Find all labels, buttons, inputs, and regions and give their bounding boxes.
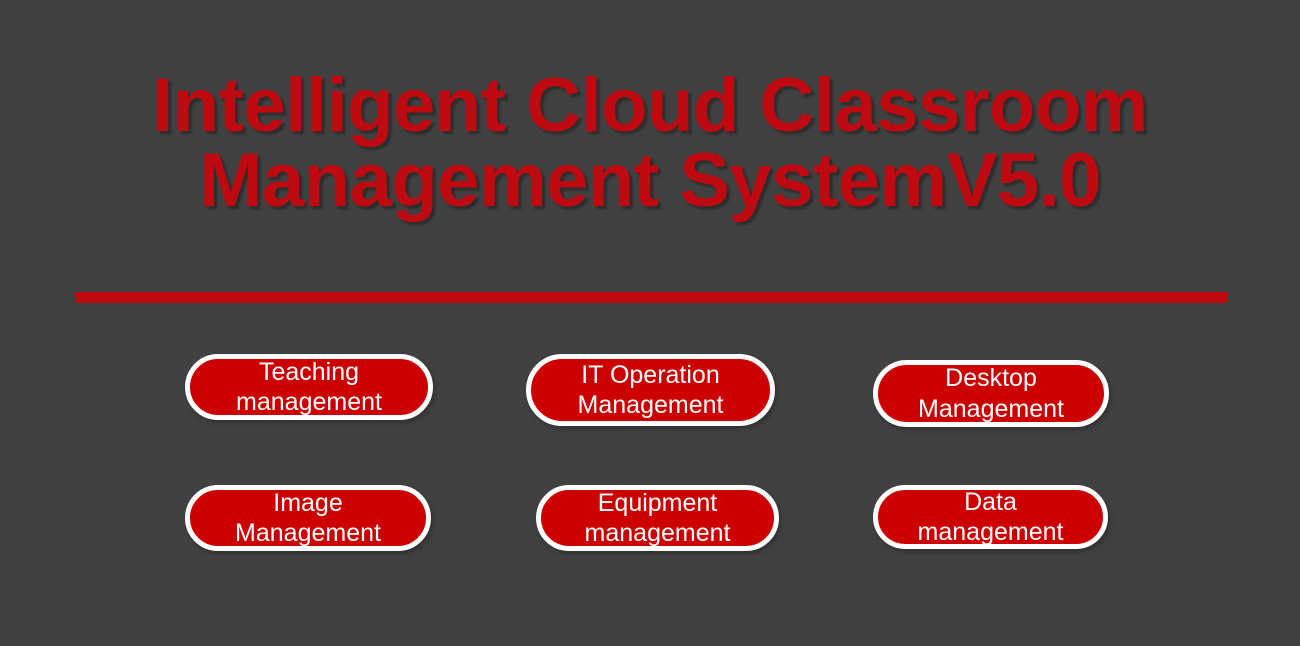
- menu-button-teaching-management[interactable]: Teaching management: [185, 354, 433, 420]
- page-title-line-2: Management SystemV5.0: [0, 143, 1300, 218]
- menu-button-label: Image Management: [235, 488, 381, 549]
- menu-button-label: Equipment management: [585, 488, 731, 549]
- title-divider-rule: [75, 292, 1228, 303]
- slide-canvas: Intelligent Cloud Classroom Management S…: [0, 0, 1300, 646]
- menu-button-desktop-management[interactable]: Desktop Management: [873, 360, 1109, 427]
- menu-button-it-operation-management[interactable]: IT Operation Management: [526, 354, 775, 426]
- menu-button-equipment-management[interactable]: Equipment management: [536, 485, 779, 551]
- page-title-line-1: Intelligent Cloud Classroom: [0, 68, 1300, 143]
- menu-button-image-management[interactable]: Image Management: [185, 485, 431, 551]
- menu-button-label: Desktop Management: [918, 363, 1064, 424]
- menu-button-label: Data management: [918, 487, 1064, 548]
- menu-button-data-management[interactable]: Data management: [873, 485, 1108, 549]
- menu-button-label: IT Operation Management: [578, 360, 724, 421]
- page-title: Intelligent Cloud Classroom Management S…: [0, 68, 1300, 218]
- menu-button-label: Teaching management: [236, 357, 382, 418]
